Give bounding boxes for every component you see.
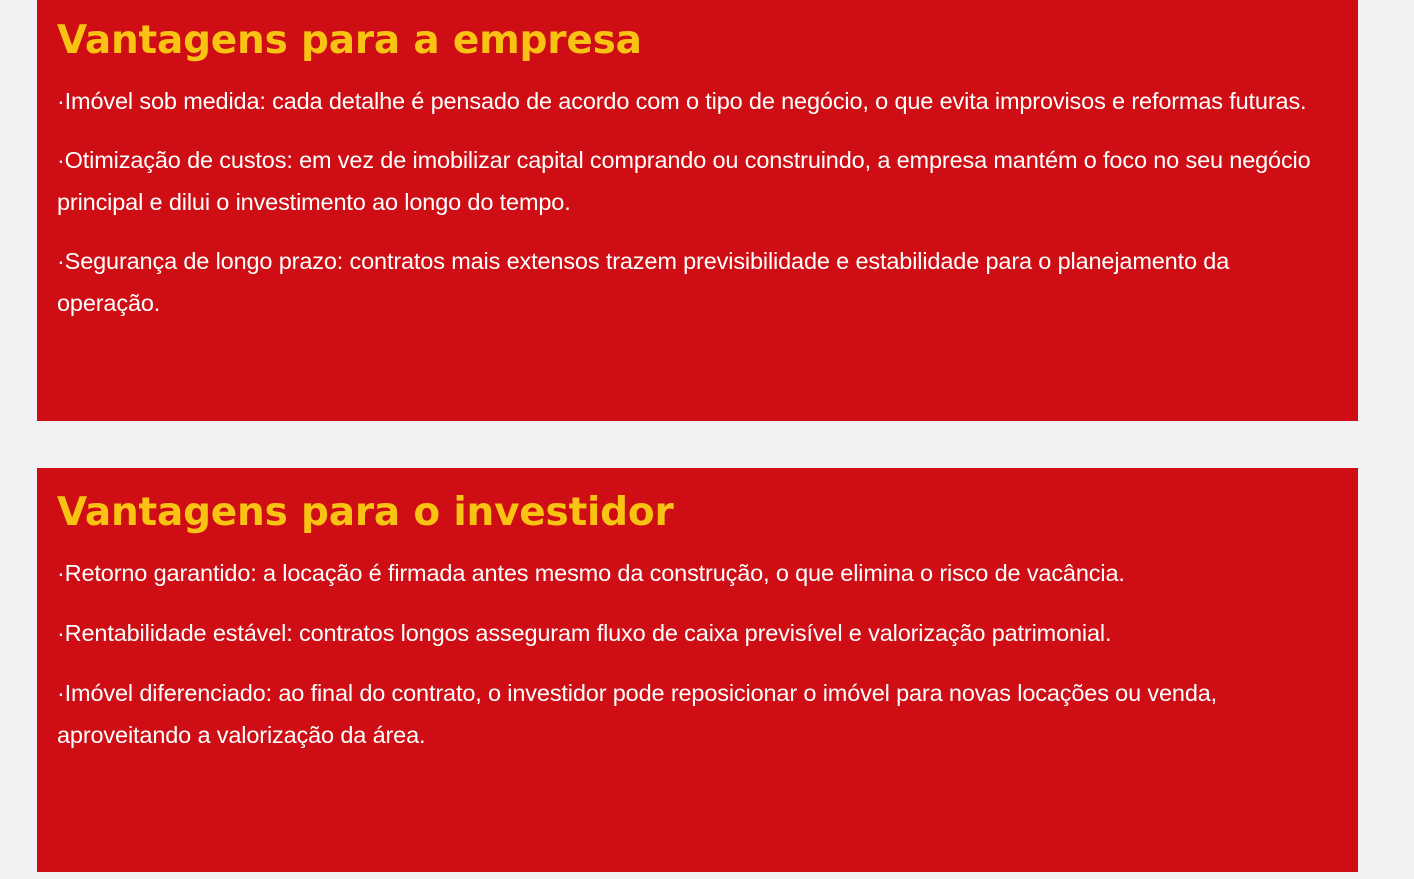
list-item: ·Retorno garantido: a locação é firmada … — [57, 552, 1338, 594]
advantages-investor-bullet-list: ·Retorno garantido: a locação é firmada … — [57, 552, 1338, 756]
advantages-company-bullet-list: ·Imóvel sob medida: cada detalhe é pensa… — [57, 80, 1338, 324]
advantages-investor-card: Vantagens para o investidor ·Retorno gar… — [37, 468, 1358, 872]
advantages-company-title: Vantagens para a empresa — [57, 16, 1338, 66]
list-item: ·Rentabilidade estável: contratos longos… — [57, 612, 1338, 654]
list-item: ·Segurança de longo prazo: contratos mai… — [57, 240, 1338, 324]
list-item: ·Otimização de custos: em vez de imobili… — [57, 139, 1338, 223]
advantages-company-card: Vantagens para a empresa ·Imóvel sob med… — [37, 0, 1358, 421]
advantages-investor-title: Vantagens para o investidor — [57, 488, 1338, 538]
list-item: ·Imóvel sob medida: cada detalhe é pensa… — [57, 80, 1338, 122]
slide-page: Vantagens para a empresa ·Imóvel sob med… — [0, 0, 1414, 879]
list-item: ·Imóvel diferenciado: ao final do contra… — [57, 672, 1338, 756]
